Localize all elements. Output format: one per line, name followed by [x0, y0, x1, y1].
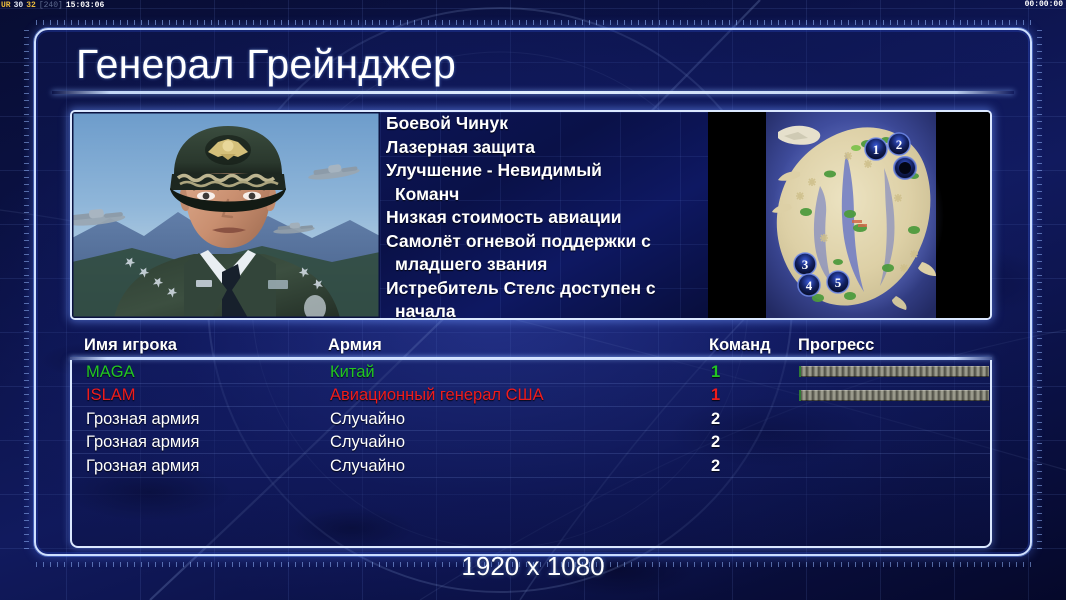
page-title: Генерал Грейнджер: [76, 36, 456, 92]
ability-line: Истребитель Стелс доступен с: [386, 277, 700, 301]
title-area: Генерал Грейнджер: [52, 36, 1014, 92]
player-team: 1: [711, 362, 720, 382]
player-army: Авиационный генерал США: [330, 385, 544, 405]
ruler-top: [36, 16, 1032, 25]
player-progress: [799, 460, 989, 471]
ability-line: Лазерная защита: [386, 136, 700, 160]
svg-text:1: 1: [873, 142, 880, 157]
ability-line: Улучшение - Невидимый: [386, 159, 700, 183]
player-table: Имя игрока Армия Команд Прогресс MAGAКит…: [70, 330, 992, 548]
ability-line: начала: [386, 300, 700, 318]
general-info-panel: Боевой ЧинукЛазерная защитаУлучшение - Н…: [70, 110, 992, 320]
start-marker-5: 5: [827, 271, 849, 293]
svg-text:3: 3: [802, 257, 809, 272]
svg-text:4: 4: [806, 278, 813, 293]
player-army: Случайно: [330, 409, 405, 429]
loading-screen: UR 30 32 [240] 15:03:06 00:00:00 Генерал…: [0, 0, 1066, 600]
progress-bar: [799, 390, 989, 401]
column-header-progress: Прогресс: [798, 336, 874, 355]
cap-insignia-icon: [205, 135, 251, 165]
start-marker-4: 4: [798, 274, 820, 296]
ability-line: Боевой Чинук: [386, 112, 700, 136]
ruler-right: [1037, 30, 1046, 554]
player-army: Случайно: [330, 456, 405, 476]
start-marker-2: 2: [888, 133, 910, 155]
start-marker-3: 3: [794, 253, 816, 275]
table-row[interactable]: ISLAMАвиационный генерал США1: [72, 384, 990, 408]
table-rows: MAGAКитай1ISLAMАвиационный генерал США1Г…: [72, 360, 990, 478]
player-name: Грозная армия: [86, 456, 199, 476]
player-progress: [799, 366, 989, 377]
svg-text:5: 5: [835, 275, 842, 290]
perf-timestamp: 15:03:06: [66, 1, 104, 10]
player-team: 2: [711, 456, 720, 476]
row-divider: [72, 477, 990, 478]
player-name: Грозная армия: [86, 409, 199, 429]
svg-text:2: 2: [896, 137, 903, 152]
player-progress: [799, 413, 989, 424]
general-ability-list: Боевой ЧинукЛазерная защитаУлучшение - Н…: [380, 112, 708, 318]
player-team: 2: [711, 409, 720, 429]
session-clock: 00:00:00: [1025, 0, 1063, 11]
ability-line: Самолёт огневой поддержки с: [386, 230, 700, 254]
map-preview: 1 2 3 4: [708, 112, 990, 318]
table-row[interactable]: MAGAКитай1: [72, 360, 990, 384]
perf-value-a: 30: [14, 1, 24, 10]
player-progress: [799, 437, 989, 448]
player-team: 1: [711, 385, 720, 405]
player-army: Китай: [330, 362, 375, 382]
start-marker-6: [894, 157, 916, 179]
column-header-player: Имя игрока: [84, 336, 177, 355]
column-header-team: Команд: [709, 336, 771, 355]
player-name: MAGA: [86, 362, 135, 382]
perf-value-b: 32: [26, 1, 36, 10]
start-marker-1: 1: [865, 138, 887, 160]
ability-lines: Боевой ЧинукЛазерная защитаУлучшение - Н…: [386, 112, 700, 318]
performance-overlay: UR 30 32 [240] 15:03:06: [0, 0, 104, 11]
general-portrait: [72, 112, 380, 318]
ruler-left: [20, 30, 29, 554]
progress-bar: [799, 366, 989, 377]
table-row[interactable]: Грозная армияСлучайно2: [72, 454, 990, 478]
table-header-row: Имя игрока Армия Команд Прогресс: [70, 330, 992, 357]
table-row[interactable]: Грозная армияСлучайно2: [72, 431, 990, 455]
perf-bracket: [240]: [39, 1, 63, 10]
ability-line: младшего звания: [386, 253, 700, 277]
resolution-label: 1920 x 1080: [0, 551, 1066, 581]
table-body: MAGAКитай1ISLAMАвиационный генерал США1Г…: [70, 360, 992, 548]
player-team: 2: [711, 432, 720, 452]
title-underline: [52, 91, 1014, 94]
column-header-army: Армия: [328, 336, 382, 355]
ability-line: Низкая стоимость авиации: [386, 206, 700, 230]
player-name: ISLAM: [86, 385, 136, 405]
perf-prefix: UR: [1, 1, 11, 10]
player-army: Случайно: [330, 432, 405, 452]
table-row[interactable]: Грозная армияСлучайно2: [72, 407, 990, 431]
player-name: Грозная армия: [86, 432, 199, 452]
ability-line: Команч: [386, 183, 700, 207]
player-progress: [799, 390, 989, 401]
